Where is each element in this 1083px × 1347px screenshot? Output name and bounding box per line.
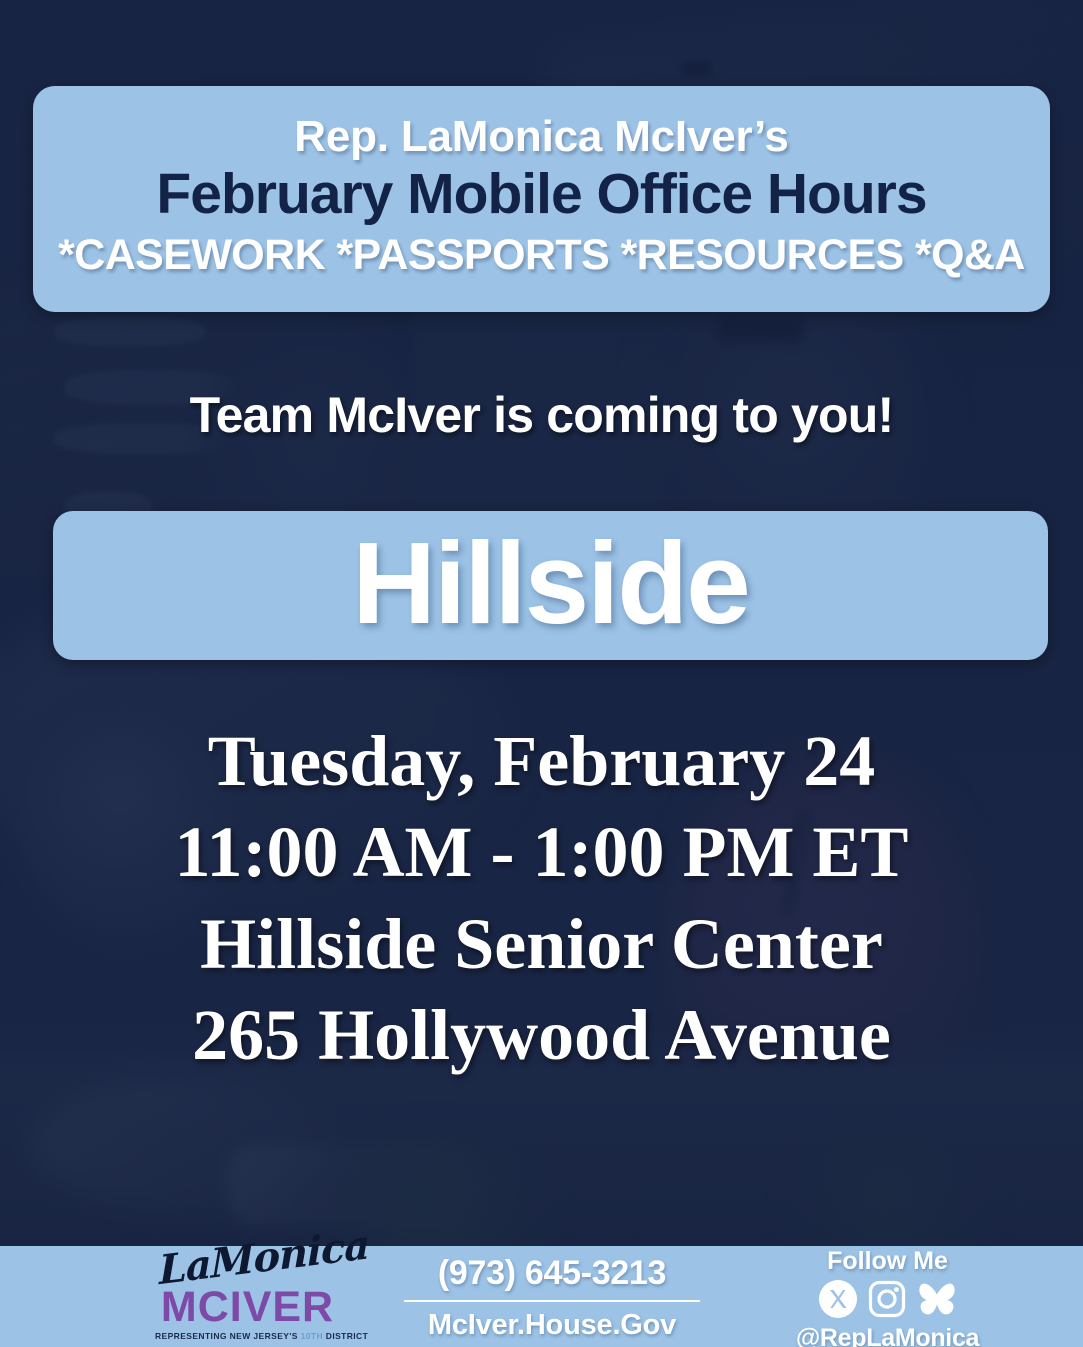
city-name: Hillside bbox=[352, 525, 749, 641]
event-date: Tuesday, February 24 bbox=[0, 716, 1083, 807]
footer-social: Follow Me bbox=[780, 1248, 995, 1347]
event-flyer: Rep. LaMonica McIver’s February Mobile O… bbox=[0, 0, 1083, 1347]
footer-contact: (973) 645-3213 McIver.House.Gov bbox=[392, 1254, 712, 1342]
logo-tagline-before: REPRESENTING NEW JERSEY'S bbox=[155, 1331, 298, 1341]
event-time: 11:00 AM - 1:00 PM ET bbox=[0, 807, 1083, 898]
logo-tagline-district-number: 10TH bbox=[301, 1331, 323, 1341]
mciver-logo: LaMonica MCIVER REPRESENTING NEW JERSEY'… bbox=[155, 1252, 340, 1344]
logo-tagline-after: DISTRICT bbox=[326, 1331, 368, 1341]
social-handle: @RepLaMonica bbox=[780, 1325, 995, 1347]
city-banner: Hillside bbox=[53, 511, 1048, 660]
x-twitter-icon[interactable] bbox=[818, 1279, 858, 1324]
header-representative-name: Rep. LaMonica McIver’s bbox=[294, 113, 788, 161]
event-address: 265 Hollywood Avenue bbox=[0, 990, 1083, 1081]
event-venue: Hillside Senior Center bbox=[0, 899, 1083, 990]
social-icon-row bbox=[780, 1279, 995, 1324]
follow-me-label: Follow Me bbox=[780, 1248, 995, 1276]
logo-signature: LaMonica bbox=[159, 1230, 339, 1290]
contact-divider bbox=[404, 1300, 700, 1302]
website-url[interactable]: McIver.House.Gov bbox=[392, 1309, 712, 1342]
bluesky-icon[interactable] bbox=[916, 1279, 958, 1324]
logo-district-tagline: REPRESENTING NEW JERSEY'S 10TH DISTRICT bbox=[155, 1331, 340, 1341]
event-details: Tuesday, February 24 11:00 AM - 1:00 PM … bbox=[0, 716, 1083, 1082]
tagline: Team McIver is coming to you! bbox=[0, 386, 1083, 444]
header-services-list: *CASEWORK *PASSPORTS *RESOURCES *Q&A bbox=[58, 232, 1025, 279]
header-event-title: February Mobile Office Hours bbox=[156, 163, 926, 226]
header-card: Rep. LaMonica McIver’s February Mobile O… bbox=[33, 86, 1050, 312]
instagram-icon[interactable] bbox=[867, 1279, 907, 1324]
phone-number[interactable]: (973) 645-3213 bbox=[392, 1254, 712, 1293]
logo-surname: MCIVER bbox=[155, 1286, 340, 1329]
